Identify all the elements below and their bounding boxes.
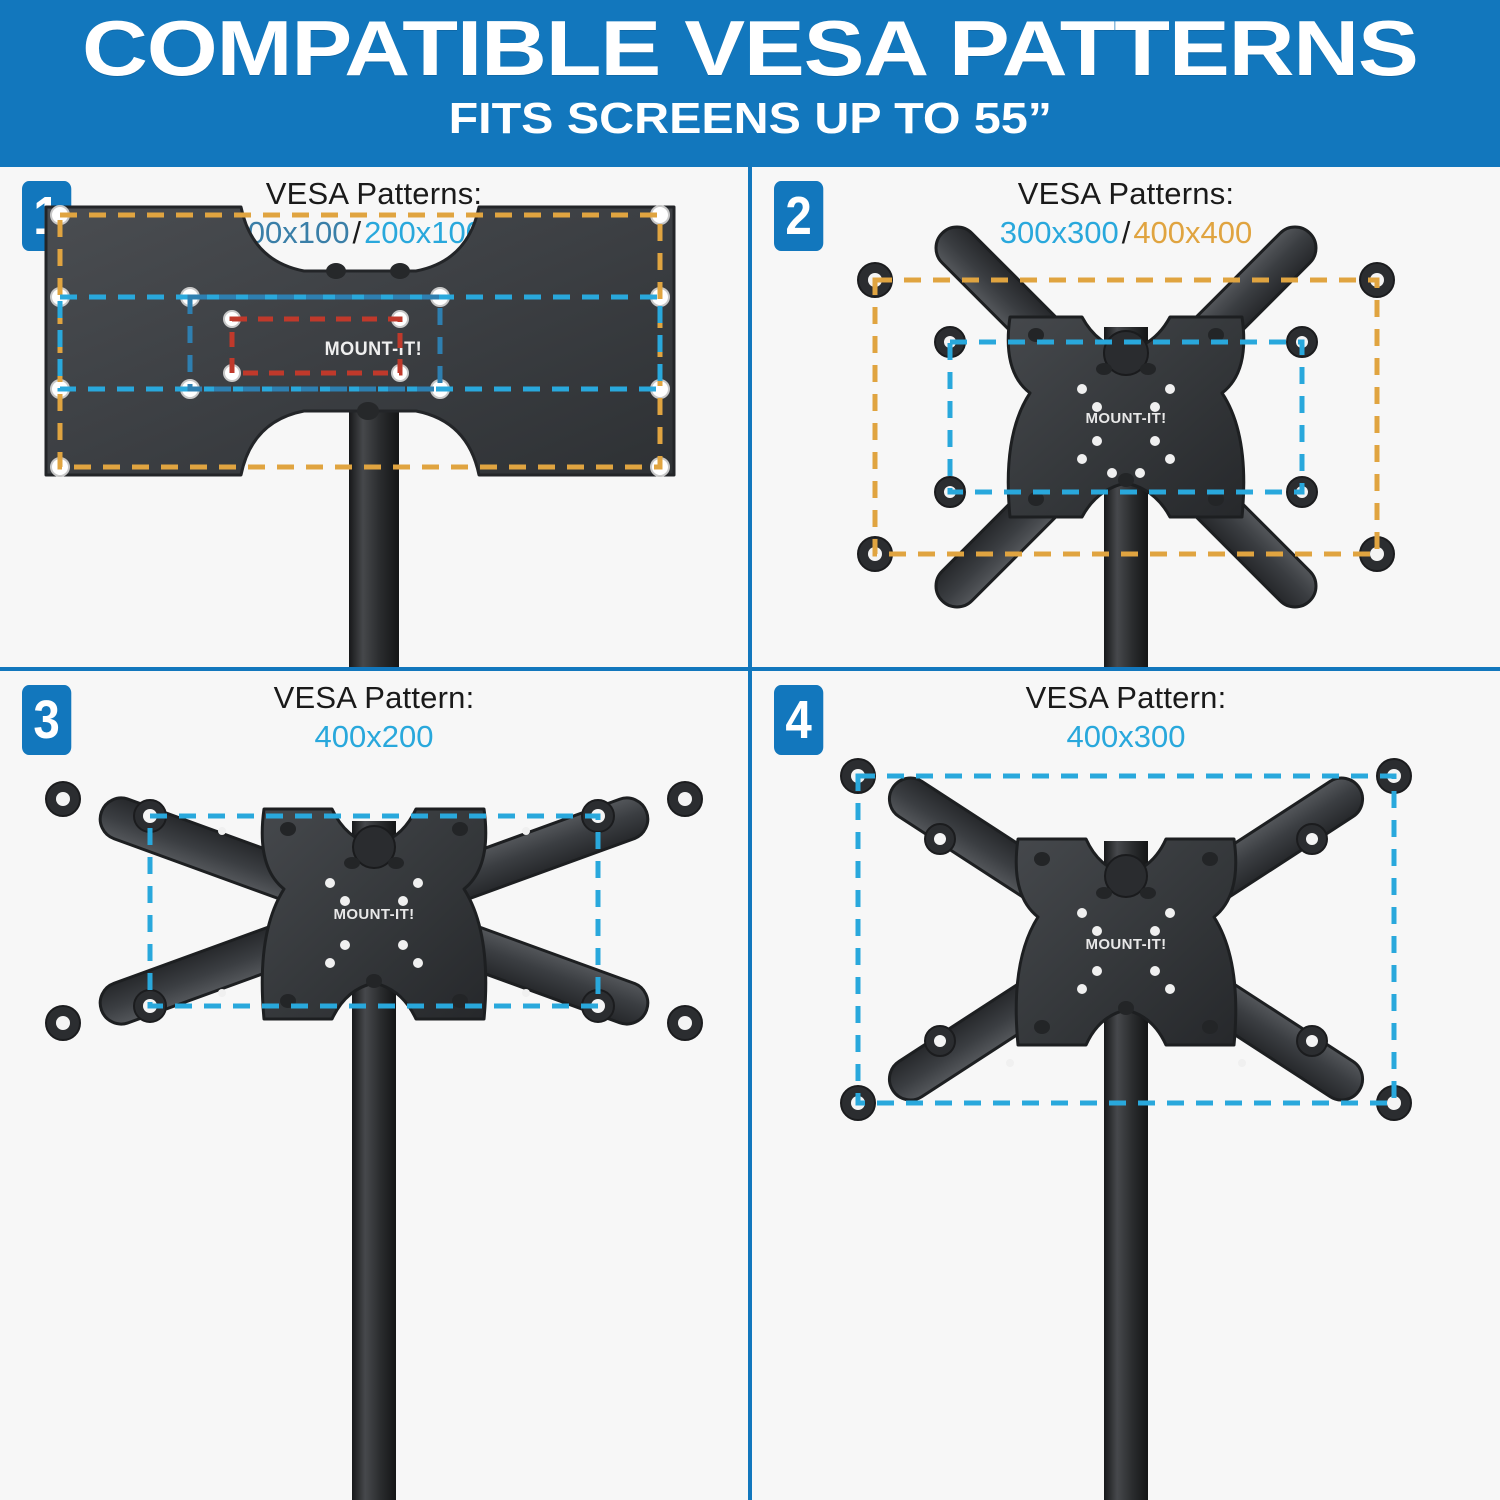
panel-3: 3 VESA Pattern: 400x200 xyxy=(0,671,748,1500)
brand-logo: MOUNT-IT! xyxy=(1085,936,1166,953)
panel-1-illustration: MOUNT-IT! xyxy=(0,167,748,667)
page-title: COMPATIBLE VESA PATTERNS xyxy=(82,4,1418,92)
panel-2-illustration: MOUNT-IT! xyxy=(752,167,1500,667)
brand-logo: MOUNT-IT! xyxy=(325,338,422,360)
brand-logo: MOUNT-IT! xyxy=(333,906,414,923)
brand-logo: MOUNT-IT! xyxy=(1085,410,1166,427)
panel-grid: 1 VESA Patterns: 75x75/100x100/200x100/2… xyxy=(0,163,1500,1500)
panel-4: 4 VESA Pattern: 400x300 xyxy=(752,671,1500,1500)
panel-1: 1 VESA Patterns: 75x75/100x100/200x100/2… xyxy=(0,167,748,667)
infographic-page: COMPATIBLE VESA PATTERNS FITS SCREENS UP… xyxy=(0,0,1500,1500)
panel-4-illustration: MOUNT-IT! xyxy=(752,671,1500,1500)
panel-3-illustration: MOUNT-IT! xyxy=(0,671,748,1500)
header-banner: COMPATIBLE VESA PATTERNS FITS SCREENS UP… xyxy=(0,0,1500,163)
panel-2: 2 VESA Patterns: 300x300/400x400 xyxy=(752,167,1500,667)
page-subtitle: FITS SCREENS UP TO 55” xyxy=(448,94,1051,144)
